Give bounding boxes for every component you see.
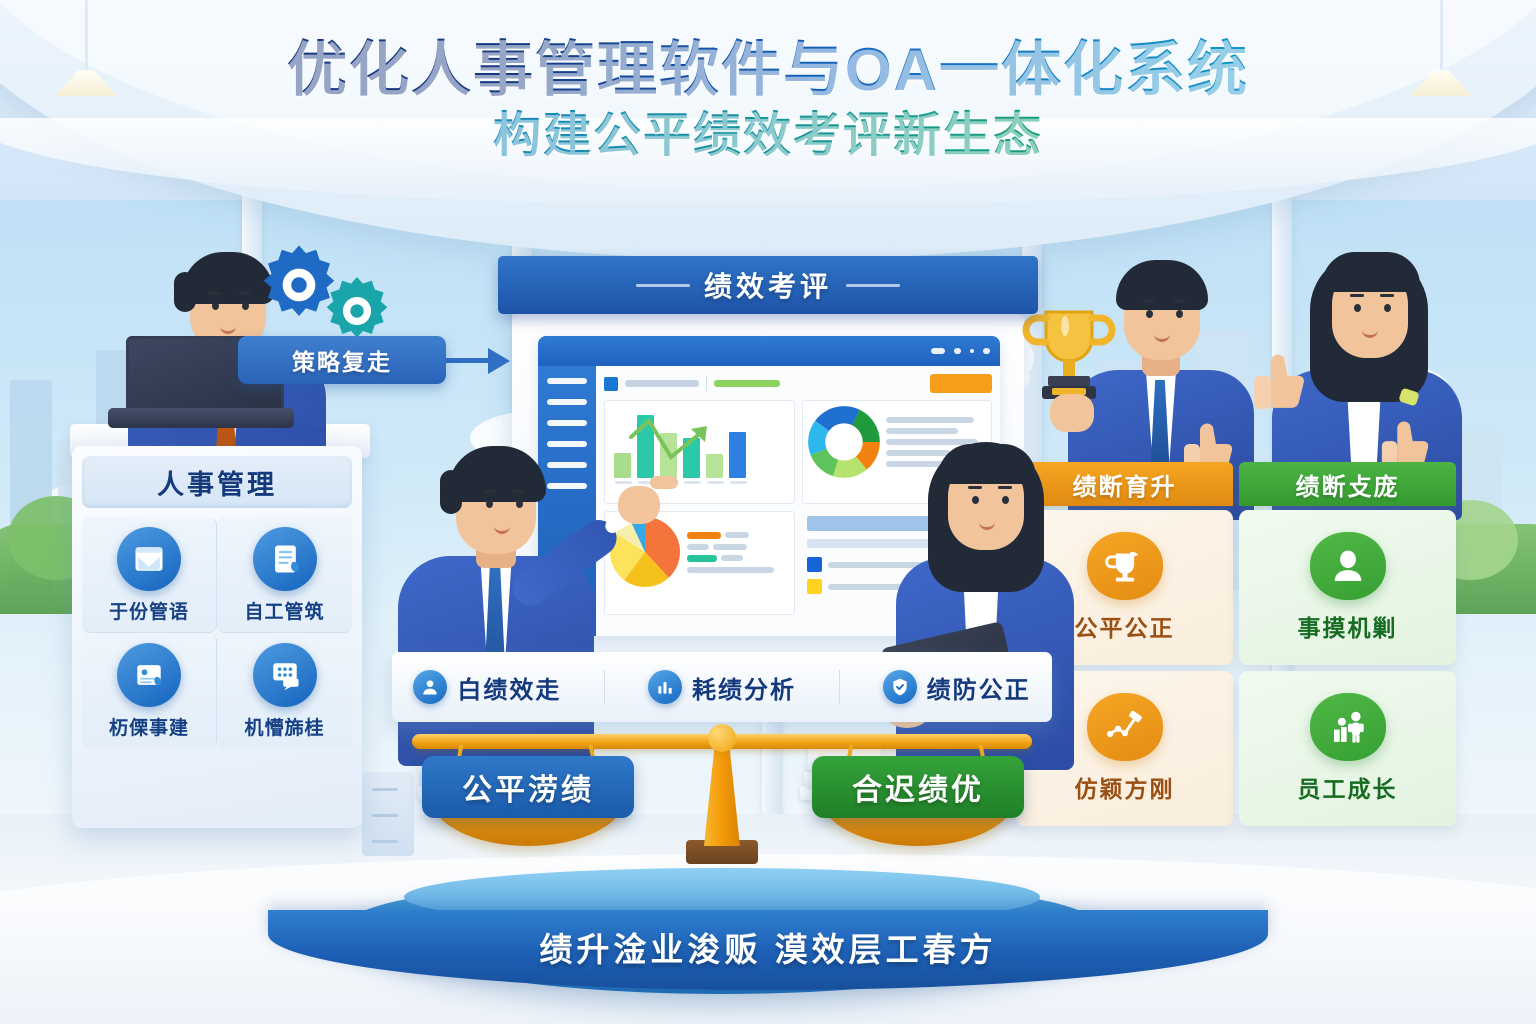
- character-woman-thumbs-up: [1254, 240, 1484, 500]
- scale-label-right-text: 合迟绩优: [852, 765, 984, 809]
- left-panel: 人事管理 于份管语 自工管筑 杤傈事建: [72, 446, 362, 828]
- left-panel-item-0[interactable]: 于份管语: [82, 517, 217, 633]
- scale-label-left[interactable]: 公平涝绩: [422, 756, 634, 818]
- donut-chart: [808, 406, 880, 478]
- growth-person-icon: [1310, 693, 1386, 761]
- presentation-screen-header: 绩效考评: [498, 256, 1038, 314]
- right-card-1[interactable]: 事摸机剿: [1239, 510, 1456, 665]
- screen-title: 绩效考评: [704, 265, 832, 305]
- primary-action-chip[interactable]: [930, 374, 992, 393]
- right-card-label: 员工成长: [1298, 770, 1398, 804]
- laptop-base: [108, 408, 294, 428]
- close-icon[interactable]: [983, 348, 990, 354]
- user-icon: [413, 670, 447, 704]
- left-panel-item-label: 于份管语: [109, 597, 189, 624]
- gear-icon-teal: [320, 274, 394, 348]
- left-panel-item-label: 杤傈事建: [109, 713, 189, 740]
- scale-knob: [708, 724, 736, 752]
- title-block: 优化人事管理软件与OA一体化系统 构建公平绩效考评新生态: [0, 36, 1536, 165]
- tab-label: 绩断攴庞: [1296, 467, 1400, 502]
- page-title-line1: 优化人事管理软件与OA一体化系统: [0, 36, 1536, 103]
- flow-label-text: 策略复走: [292, 343, 392, 377]
- arrow-right-icon: [488, 348, 510, 374]
- shield-icon: [883, 670, 917, 704]
- left-panel-item-label: 机懵旆桂: [244, 713, 324, 740]
- legend-swatch-blue: [604, 377, 618, 391]
- scale-label-right[interactable]: 合迟绩优: [812, 756, 1024, 818]
- infographic-canvas: 优化人事管理软件与OA一体化系统 构建公平绩效考评新生态 策略复走: [0, 0, 1536, 1024]
- chat-grid-icon: [253, 643, 317, 707]
- pie-legend: [687, 532, 789, 573]
- divider: [604, 670, 605, 704]
- left-panel-item-1[interactable]: 自工管筑: [217, 517, 352, 633]
- divider: [839, 670, 840, 704]
- left-panel-item-3[interactable]: 机懵旆桂: [217, 633, 352, 748]
- left-panel-item-label: 自工管筑: [244, 597, 324, 624]
- dashboard-titlebar: [538, 336, 1000, 366]
- right-card-label: 事摸机剿: [1298, 609, 1398, 643]
- document-icon: [253, 527, 317, 591]
- scale-column: [704, 744, 740, 846]
- inbox-icon: [117, 527, 181, 591]
- left-panel-title: 人事管理: [157, 463, 277, 502]
- tab-development[interactable]: 绩断攴庞: [1239, 462, 1456, 506]
- pointing-hand: [618, 486, 660, 524]
- id-card-icon: [117, 643, 181, 707]
- thumbs-up-icon: [1250, 348, 1308, 419]
- trophy-icon: [1020, 298, 1118, 409]
- scale-label-left-text: 公平涝绩: [462, 765, 594, 809]
- person-icon: [1310, 532, 1386, 600]
- page-title-line2: 构建公平绩效考评新生态: [0, 107, 1536, 165]
- chart-icon: [648, 670, 682, 704]
- minimize-icon[interactable]: [931, 348, 945, 354]
- dot-icon: [970, 349, 974, 353]
- left-panel-grid: 于份管语 自工管筑 杤傈事建 机懵旆桂: [82, 517, 352, 748]
- bottom-banner-text: 绩升淦业浚贩 漠效层工春方: [539, 923, 996, 977]
- maximize-icon[interactable]: [954, 348, 961, 354]
- left-panel-item-2[interactable]: 杤傈事建: [82, 633, 217, 748]
- left-panel-header: 人事管理: [82, 456, 352, 508]
- right-card-3[interactable]: 员工成长: [1239, 671, 1456, 826]
